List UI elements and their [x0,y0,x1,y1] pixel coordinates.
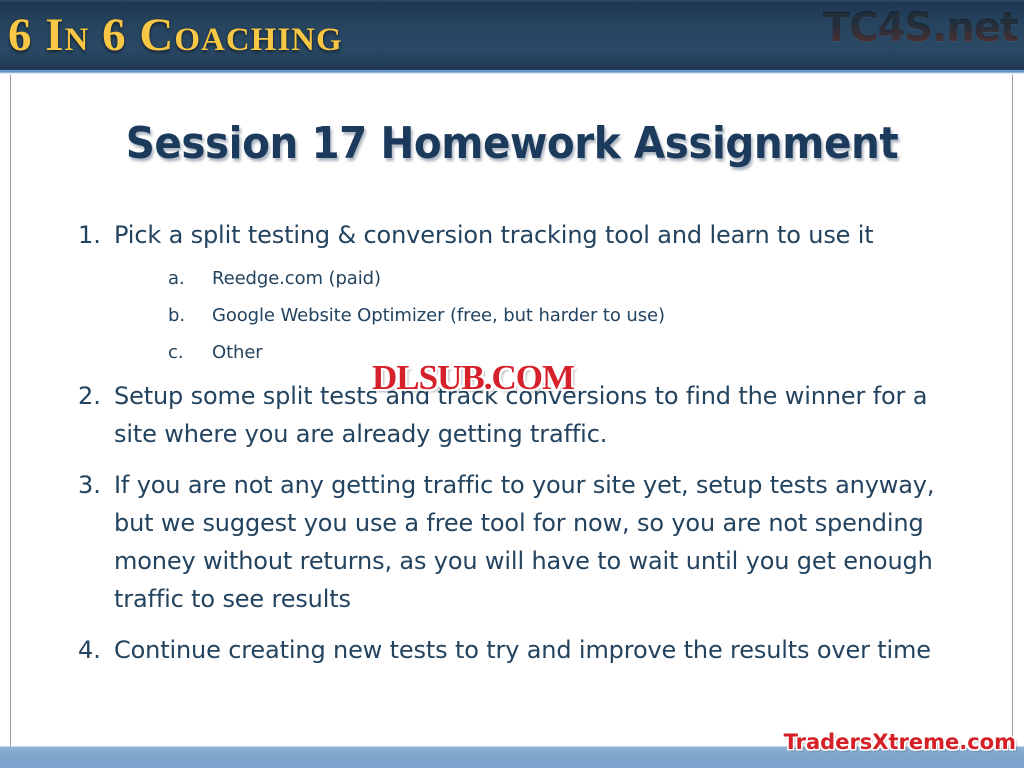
list-item-text: Pick a split testing & conversion tracki… [114,216,977,254]
slide-right-border [1012,75,1013,747]
list-item-marker: 4. [72,631,114,669]
list-item: 4. Continue creating new tests to try an… [72,631,977,669]
list-item: 3. If you are not any getting traffic to… [72,466,977,618]
list-item-marker: 2. [72,377,114,415]
list-item: 1. Pick a split testing & conversion tra… [72,216,977,254]
slide-canvas: 6 In 6 Coaching TC4S.net Session 17 Home… [0,0,1024,768]
sub-list-item-text: Google Website Optimizer (free, but hard… [212,297,977,334]
slide-left-border [10,75,11,747]
page-title: Session 17 Homework Assignment [41,118,983,169]
list-item-text: If you are not any getting traffic to yo… [114,466,977,618]
tc4s-watermark-text: TC4S.net [823,2,1018,54]
sub-list: a. Reedge.com (paid) b. Google Website O… [72,260,977,371]
slide-header-band: 6 In 6 Coaching TC4S.net [0,0,1024,70]
sub-list-item: a. Reedge.com (paid) [72,260,977,297]
sub-list-item: b. Google Website Optimizer (free, but h… [72,297,977,334]
list-spacer [72,621,977,631]
list-item-marker: 3. [72,466,114,504]
sub-list-item-marker: c. [72,334,212,371]
sub-list-item-marker: b. [72,297,212,334]
sub-list-item-text: Reedge.com (paid) [212,260,977,297]
brand-logo-text: 6 In 6 Coaching [8,8,343,62]
sub-list-item-text: Other [212,334,977,371]
list-spacer [72,456,977,466]
list-item-text: Continue creating new tests to try and i… [114,631,977,669]
dlsub-watermark-text: DLSUB.COM [372,358,574,398]
list-item-marker: 1. [72,216,114,254]
homework-list: 1. Pick a split testing & conversion tra… [72,216,977,672]
header-accent-line-soft [0,73,1024,75]
sub-list-item-marker: a. [72,260,212,297]
tradersxtreme-watermark-text: TradersXtreme.com [784,730,1016,754]
